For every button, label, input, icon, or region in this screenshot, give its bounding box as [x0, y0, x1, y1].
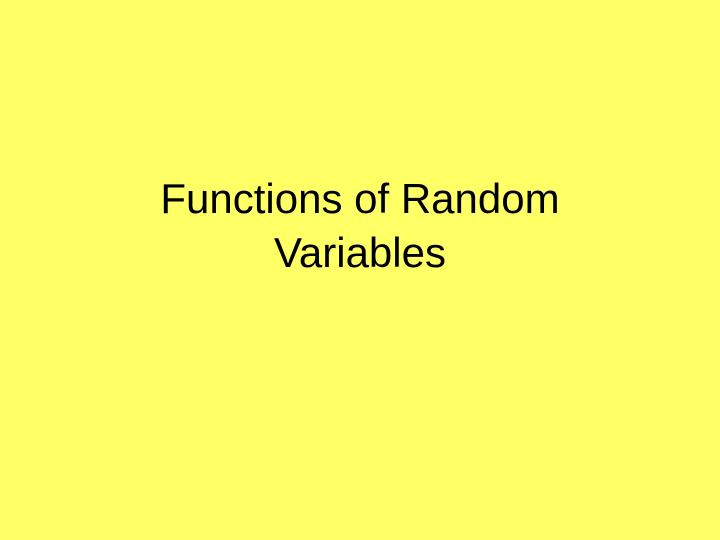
slide-content-area: Functions of Random Variables	[0, 0, 720, 540]
slide-title: Functions of Random Variables	[54, 172, 666, 280]
title-line-1: Functions of Random	[54, 172, 666, 226]
presentation-slide: Functions of Random Variables	[0, 0, 720, 540]
title-line-2: Variables	[54, 226, 666, 280]
